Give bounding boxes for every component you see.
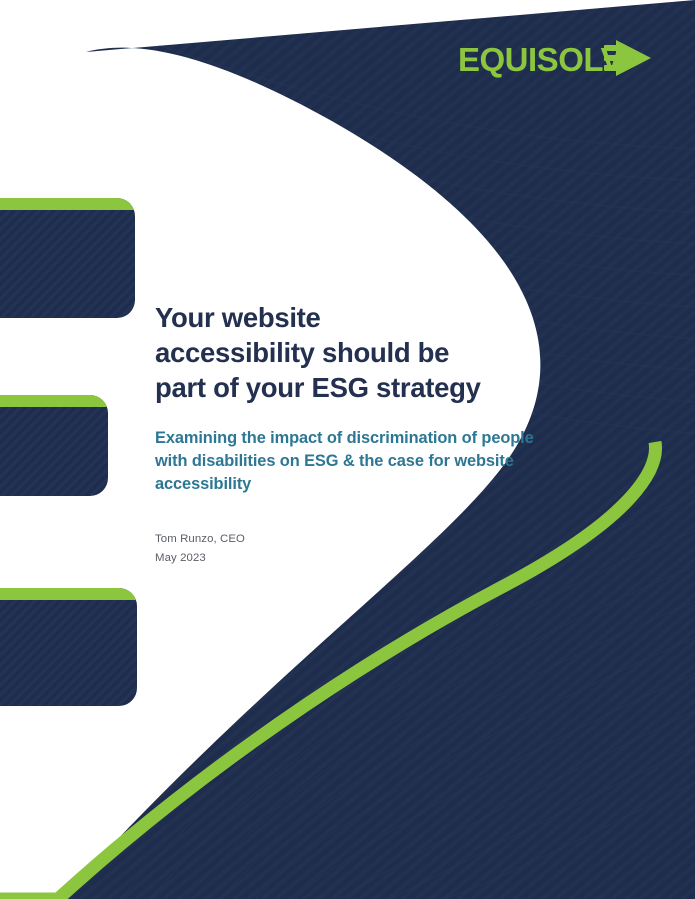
page-subtitle: Examining the impact of discrimination o…: [155, 427, 567, 497]
equisolv-arrow-logo[interactable]: EQUISOLV: [458, 38, 658, 84]
logo-arrow-icon: [604, 40, 651, 76]
subtitle-line-1: Examining the impact of discrimination o…: [155, 429, 477, 447]
byline: Tom Runzo, CEO May 2023: [155, 530, 575, 568]
cover-page: EQUISOLV Your website accessibility shou…: [0, 0, 695, 899]
logo-wordmark: EQUISOLV: [458, 41, 623, 78]
title-line-1: Your website: [155, 302, 321, 333]
side-box-3: [0, 588, 137, 706]
title-line-2: accessibility should be: [155, 337, 449, 368]
title-line-3: part of your ESG strategy: [155, 372, 481, 403]
side-box-1: [0, 198, 135, 318]
page-title: Your website accessibility should be par…: [155, 300, 575, 406]
byline-author: Tom Runzo, CEO: [155, 530, 575, 549]
side-box-2: [0, 395, 108, 496]
byline-date: May 2023: [155, 549, 575, 568]
cover-text-block: Your website accessibility should be par…: [155, 300, 575, 568]
